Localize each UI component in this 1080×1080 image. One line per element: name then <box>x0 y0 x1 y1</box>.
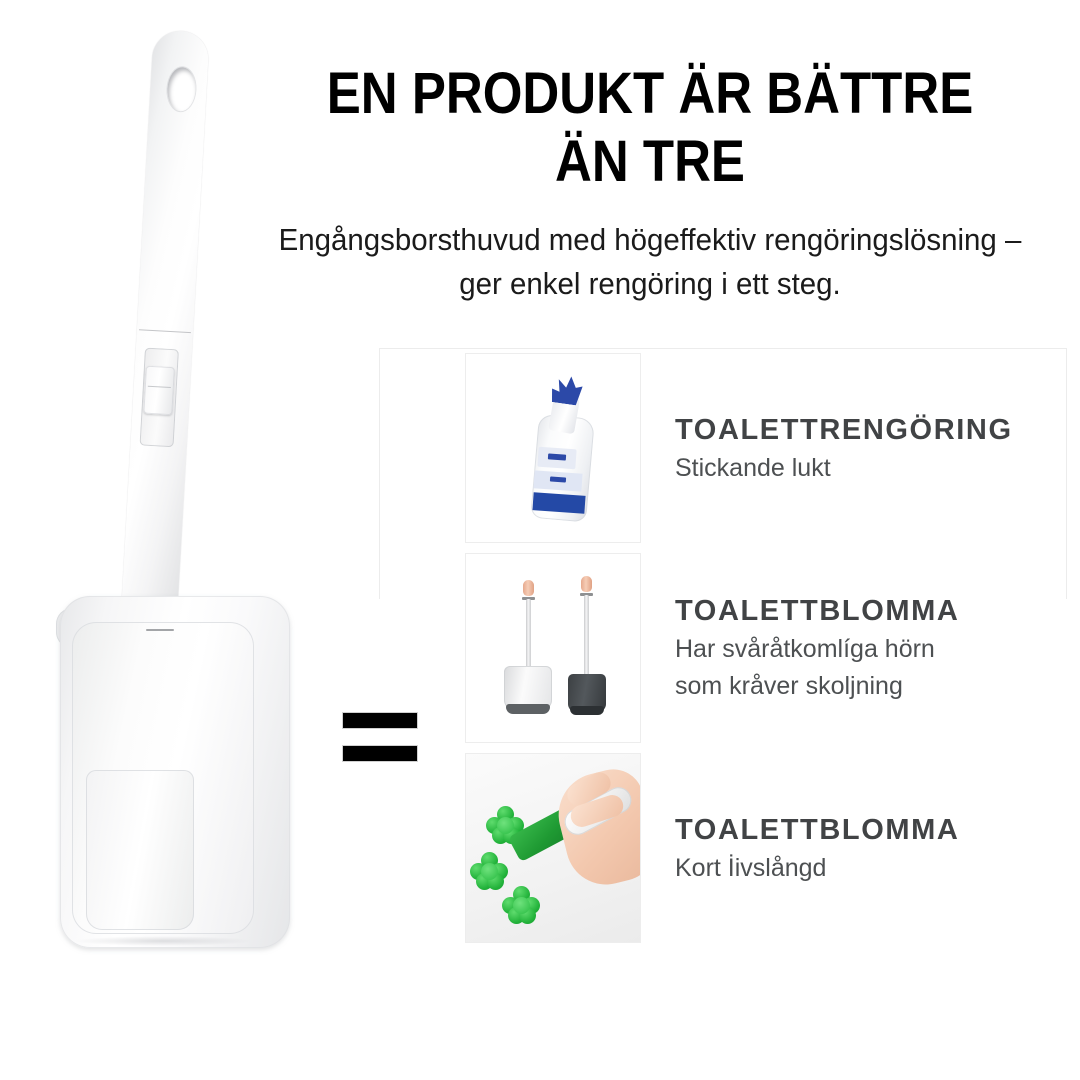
gel-illustration <box>466 754 640 942</box>
list-item: TOALETTRENGÖRING Stickande lukt <box>379 348 1069 548</box>
row-description-line1: Har svåråtkomlíga hörn <box>675 633 959 666</box>
row-text: TOALETTRENGÖRING Stickande lukt <box>675 412 1013 485</box>
gel-flower-icon <box>470 852 508 890</box>
comparison-list: TOALETTRENGÖRING Stickande lukt <box>379 348 1069 948</box>
toilet-gel-stamp-photo <box>465 753 641 943</box>
page-title: EN PRODUKT ÄR BÄTTRE ÄN TRE <box>298 60 1002 196</box>
brush-holder-light-base <box>506 704 550 714</box>
brush-stick-right <box>584 595 589 679</box>
page-subtitle: Engångsborsthuvud med högeffektiv rengör… <box>265 218 1035 306</box>
base-shadow <box>74 936 252 946</box>
row-title: TOALETTRENGÖRING <box>675 412 1013 448</box>
row-text: TOALETTBLOMMA Kort İivslångd <box>675 812 959 885</box>
base-front-panel <box>86 770 194 930</box>
infographic-canvas: EN PRODUKT ÄR BÄTTRE ÄN TRE Engångsborst… <box>0 0 1080 1080</box>
product-photo <box>0 0 340 1000</box>
bottle-chip-upper <box>548 453 566 460</box>
base-slit <box>146 629 174 631</box>
brushes-illustration <box>466 554 640 742</box>
row-title: TOALETTBLOMMA <box>675 593 959 629</box>
row-description: Kort İivslångd <box>675 852 959 885</box>
bottle-illustration <box>512 374 602 524</box>
row-text: TOALETTBLOMMA Har svåråtkomlíga hörn som… <box>675 593 959 703</box>
brush-holder-dark-base <box>570 706 604 715</box>
bottle-band-lower <box>532 492 585 514</box>
list-item: TOALETTBLOMMA Har svåråtkomlíga hörn som… <box>379 548 1069 748</box>
toilet-brushes-photo <box>465 553 641 743</box>
row-description-line2: som kråver skoljning <box>675 670 959 703</box>
row-title: TOALETTBLOMMA <box>675 812 959 848</box>
row-description: Stickande lukt <box>675 452 1013 485</box>
brush-handle <box>96 28 228 672</box>
toilet-cleaner-bottle-photo <box>465 353 641 543</box>
slider-knob <box>143 366 175 416</box>
gel-flower-icon <box>502 886 540 924</box>
brush-knob-right <box>581 576 592 592</box>
brush-stick-left <box>526 599 531 671</box>
list-item: TOALETTBLOMMA Kort İivslångd <box>379 748 1069 948</box>
brush-knob-left <box>523 580 534 596</box>
bottle-chip-mid <box>550 476 566 482</box>
handle-body <box>119 30 210 652</box>
